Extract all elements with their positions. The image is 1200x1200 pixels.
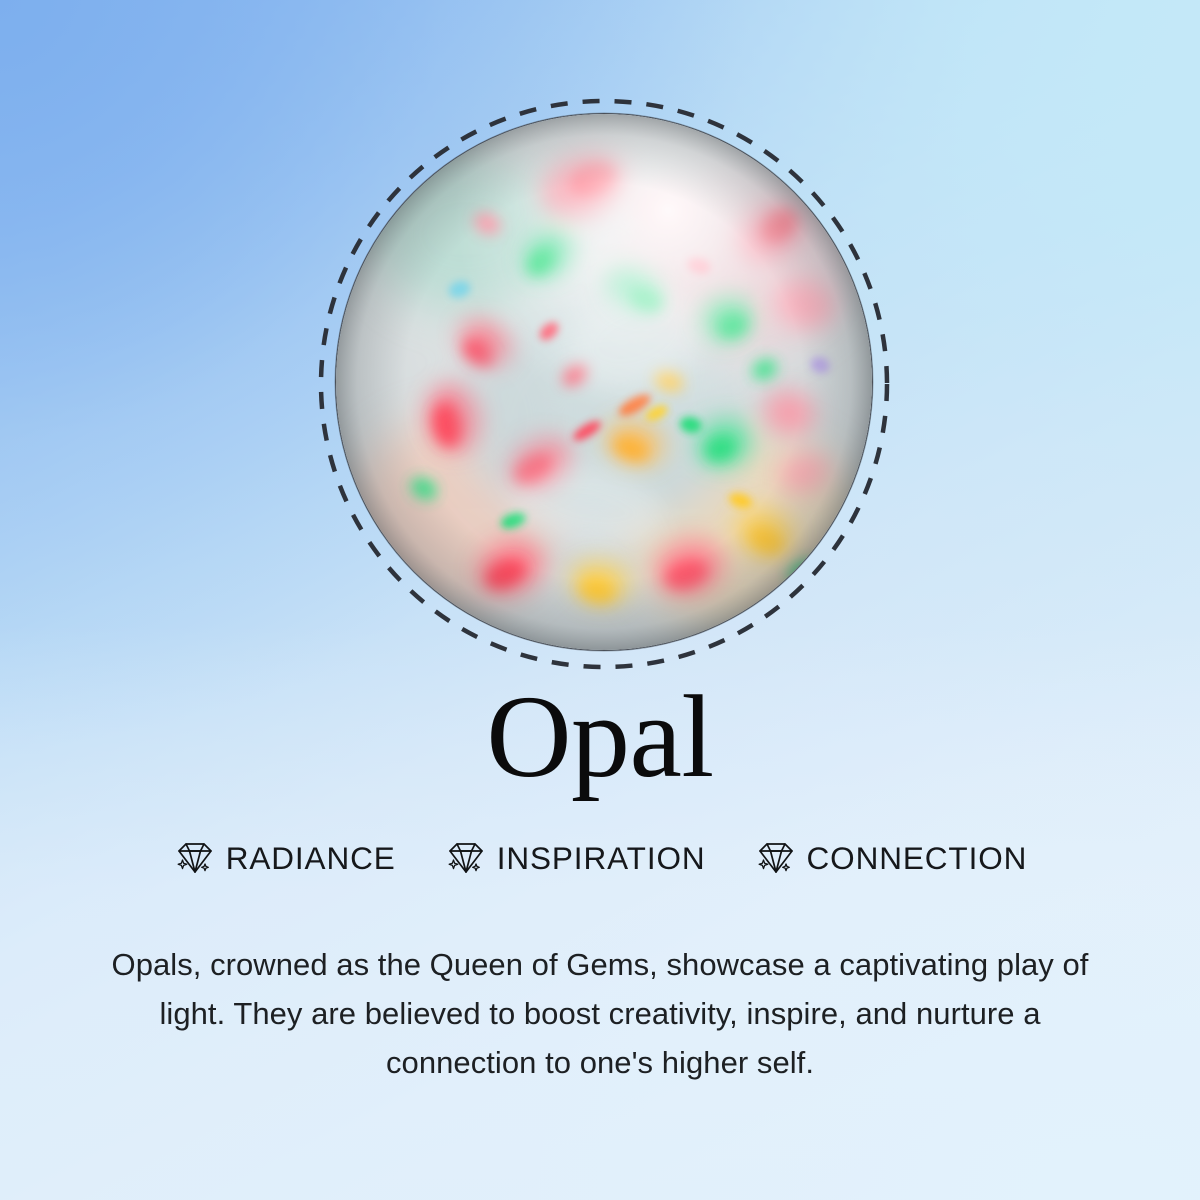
diamond-gem-icon [754, 838, 796, 878]
gemstone-figure [314, 94, 894, 674]
description-text: Opals, crowned as the Queen of Gems, sho… [96, 940, 1104, 1087]
diamond-gem-icon [444, 838, 486, 878]
page-title: Opal [0, 676, 1200, 799]
diamond-gem-icon [173, 838, 215, 878]
keyword-list: RADIANCE INSPIRATION [0, 838, 1200, 878]
keyword-item-connection: CONNECTION [754, 838, 1028, 878]
keyword-label: INSPIRATION [497, 840, 706, 877]
keyword-label: CONNECTION [807, 840, 1028, 877]
opal-gemstone-image [335, 113, 873, 651]
keyword-item-inspiration: INSPIRATION [444, 838, 706, 878]
keyword-item-radiance: RADIANCE [173, 838, 396, 878]
opal-gemstone-card: Opal RADIANCE [0, 0, 1200, 1200]
keyword-label: RADIANCE [226, 840, 396, 877]
